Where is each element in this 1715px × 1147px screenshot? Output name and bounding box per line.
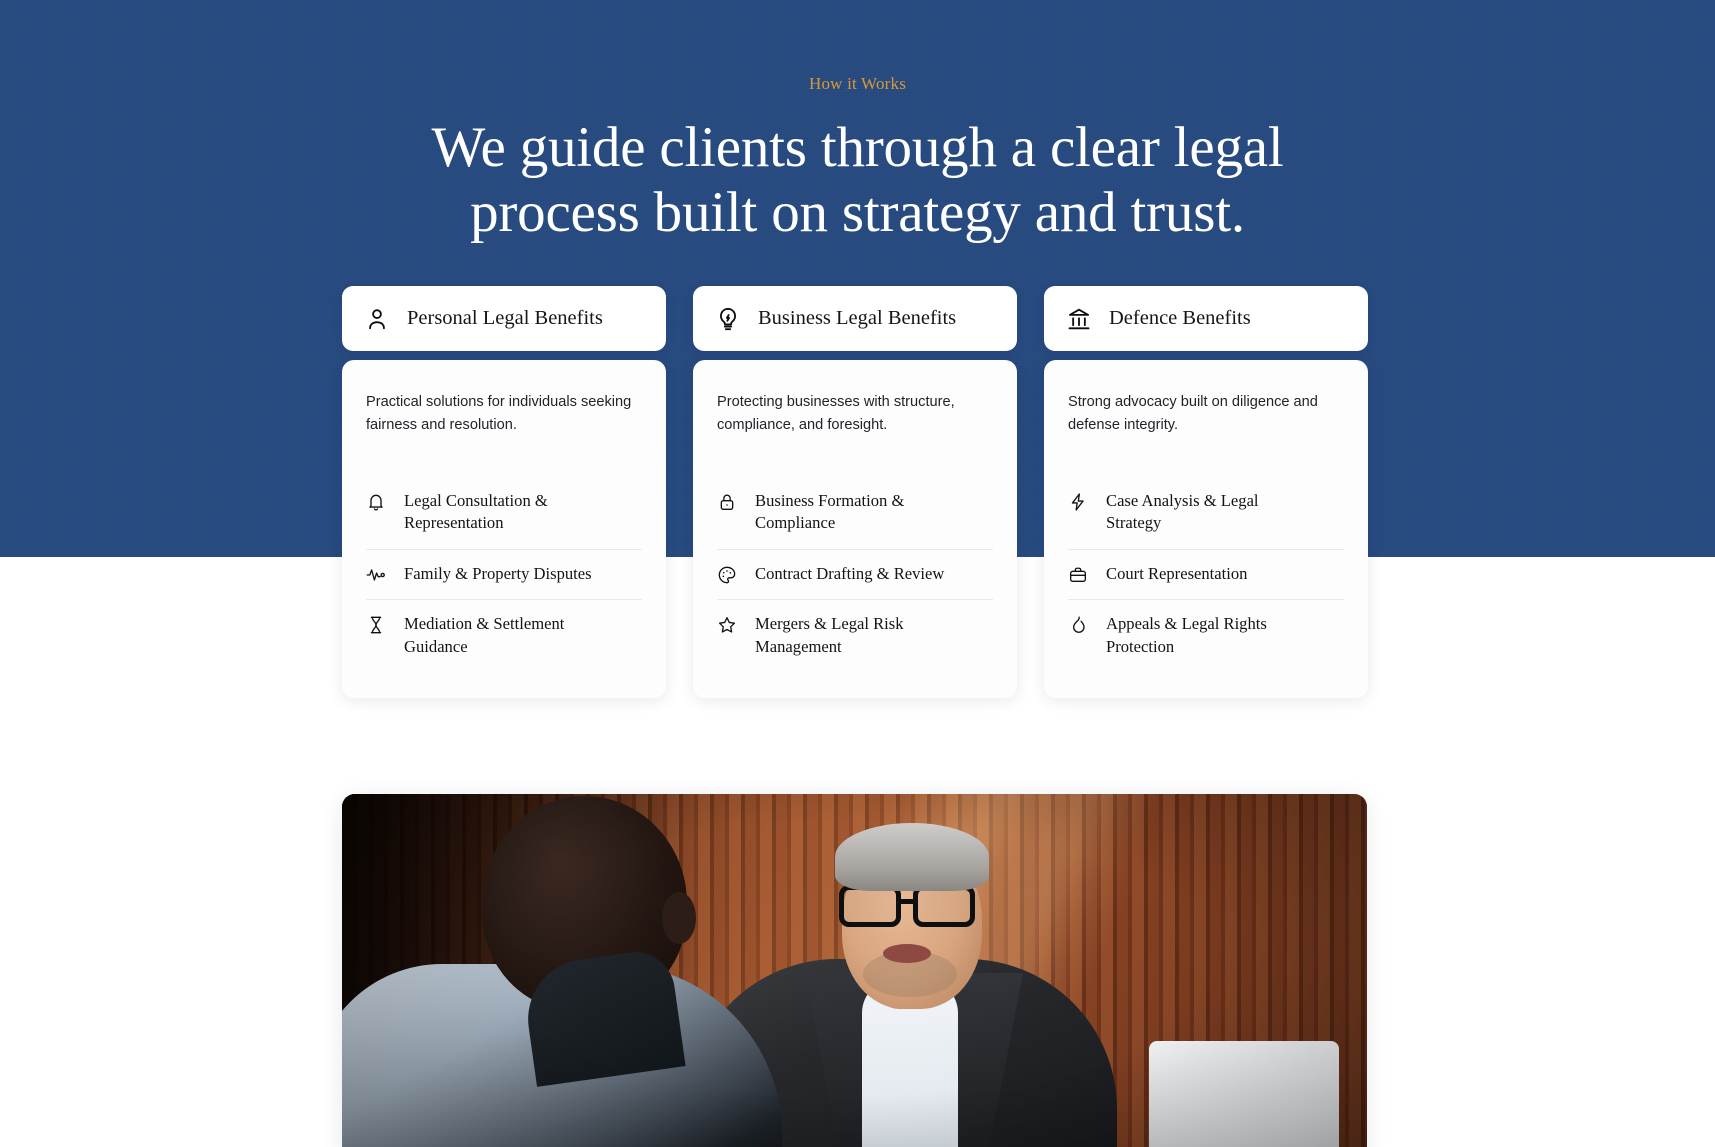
- feature-label: Family & Property Disputes: [404, 563, 592, 586]
- hourglass-icon: [366, 615, 386, 635]
- photo-vignette: [342, 794, 1367, 1147]
- feature-label: Case Analysis & Legal Strategy: [1106, 490, 1316, 535]
- card-body-defence: Strong advocacy built on diligence and d…: [1044, 360, 1368, 698]
- benefit-card-personal: Personal Legal Benefits Practical soluti…: [342, 286, 666, 698]
- list-item[interactable]: Case Analysis & Legal Strategy: [1068, 477, 1344, 550]
- benefit-card-defence: Defence Benefits Strong advocacy built o…: [1044, 286, 1368, 698]
- bank-courthouse-icon: [1066, 306, 1092, 332]
- card-body-personal: Practical solutions for individuals seek…: [342, 360, 666, 698]
- list-item[interactable]: Contract Drafting & Review: [717, 550, 993, 601]
- card-header-defence[interactable]: Defence Benefits: [1044, 286, 1368, 351]
- benefit-cards-grid: Personal Legal Benefits Practical soluti…: [342, 286, 1367, 698]
- feature-label: Mediation & Settlement Guidance: [404, 613, 614, 658]
- feature-label: Contract Drafting & Review: [755, 563, 944, 586]
- card-description: Protecting businesses with structure, co…: [717, 391, 985, 437]
- section-eyebrow: How it Works: [0, 74, 1715, 94]
- feature-label: Court Representation: [1106, 563, 1247, 586]
- list-item[interactable]: Business Formation & Compliance: [717, 477, 993, 550]
- feature-label: Mergers & Legal Risk Management: [755, 613, 965, 658]
- bell-icon: [366, 492, 386, 512]
- feature-list: Case Analysis & Legal Strategy Court Rep…: [1068, 477, 1344, 673]
- lightning-bolt-icon: [1068, 492, 1088, 512]
- activity-pulse-icon: [366, 565, 386, 585]
- card-description: Strong advocacy built on diligence and d…: [1068, 391, 1336, 437]
- feature-list: Business Formation & Compliance: [717, 477, 993, 673]
- benefit-card-business: Business Legal Benefits Protecting busin…: [693, 286, 1017, 698]
- list-item[interactable]: Appeals & Legal Rights Protection: [1068, 600, 1344, 672]
- how-it-works-section: How it Works We guide clients through a …: [0, 0, 1715, 1147]
- card-title: Defence Benefits: [1109, 306, 1251, 331]
- feature-label: Legal Consultation & Representation: [404, 490, 614, 535]
- card-title: Personal Legal Benefits: [407, 306, 603, 331]
- feature-list: Legal Consultation & Representation Fami…: [366, 477, 642, 673]
- star-icon: [717, 615, 737, 635]
- palette-icon: [717, 565, 737, 585]
- card-header-personal[interactable]: Personal Legal Benefits: [342, 286, 666, 351]
- list-item[interactable]: Legal Consultation & Representation: [366, 477, 642, 550]
- feature-label: Appeals & Legal Rights Protection: [1106, 613, 1316, 658]
- list-item[interactable]: Court Representation: [1068, 550, 1344, 601]
- user-icon: [364, 306, 390, 332]
- photo-image: [342, 794, 1367, 1147]
- flame-icon: [1068, 615, 1088, 635]
- list-item[interactable]: Family & Property Disputes: [366, 550, 642, 601]
- lock-icon: [717, 492, 737, 512]
- page-title: We guide clients through a clear legal p…: [358, 116, 1358, 246]
- card-body-business: Protecting businesses with structure, co…: [693, 360, 1017, 698]
- briefcase-icon: [1068, 565, 1088, 585]
- card-header-business[interactable]: Business Legal Benefits: [693, 286, 1017, 351]
- lightbulb-icon: [715, 306, 741, 332]
- hero-content: How it Works We guide clients through a …: [0, 0, 1715, 246]
- feature-label: Business Formation & Compliance: [755, 490, 965, 535]
- consultation-photo: [342, 794, 1367, 1147]
- card-description: Practical solutions for individuals seek…: [366, 391, 634, 437]
- card-title: Business Legal Benefits: [758, 306, 956, 331]
- list-item[interactable]: Mergers & Legal Risk Management: [717, 600, 993, 672]
- list-item[interactable]: Mediation & Settlement Guidance: [366, 600, 642, 672]
